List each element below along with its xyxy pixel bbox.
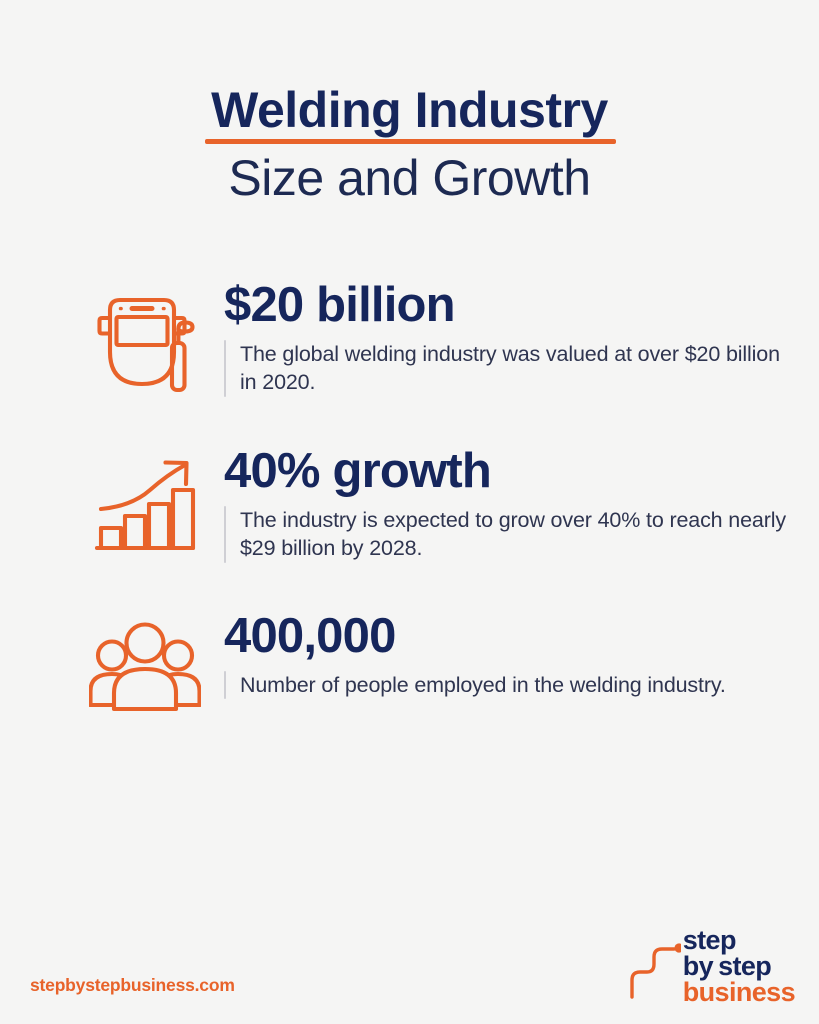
stat-content: $20 billion The global welding industry … [204,280,797,397]
stat-description: Number of people employed in the welding… [240,671,726,699]
stat-item: 40% growth The industry is expected to g… [0,446,819,563]
logo-wordmark: step by step business [683,928,795,1006]
welding-helmet-icon [86,280,204,398]
infographic-root: Welding Industry Size and Growth [0,0,819,1024]
site-url[interactable]: stepbystepbusiness.com [30,975,235,996]
logo-row-business: business [683,980,795,1006]
title-line-secondary: Size and Growth [0,150,819,206]
stat-item: 400,000 Number of people employed in the… [0,611,819,717]
title-line-primary: Welding Industry [211,84,608,136]
stat-content: 400,000 Number of people employed in the… [204,611,797,699]
stat-description-wrap: The global welding industry was valued a… [224,340,797,397]
stat-value: 400,000 [224,611,797,662]
footer: stepbystepbusiness.com step by step [0,904,819,1024]
stat-description-wrap: The industry is expected to grow over 40… [224,506,797,563]
stat-description-wrap: Number of people employed in the welding… [224,671,797,699]
people-group-icon [86,611,204,717]
stair-step-mark-icon [629,937,681,1004]
stat-divider [224,506,226,563]
stat-divider [224,671,226,699]
stat-divider [224,340,226,397]
title-underline-rule [205,139,616,144]
brand-logo[interactable]: step by step business [629,928,795,1006]
stat-description: The industry is expected to grow over 40… [240,506,797,563]
stat-content: 40% growth The industry is expected to g… [204,446,797,563]
page-title: Welding Industry Size and Growth [0,0,819,206]
growth-chart-icon [86,446,204,558]
stat-value: $20 billion [224,280,797,331]
logo-word-business: business [683,980,795,1006]
stat-description: The global welding industry was valued a… [240,340,797,397]
stat-list: $20 billion The global welding industry … [0,280,819,717]
title-primary-wrap: Welding Industry [205,84,614,144]
stat-value: 40% growth [224,446,797,497]
stat-item: $20 billion The global welding industry … [0,280,819,398]
